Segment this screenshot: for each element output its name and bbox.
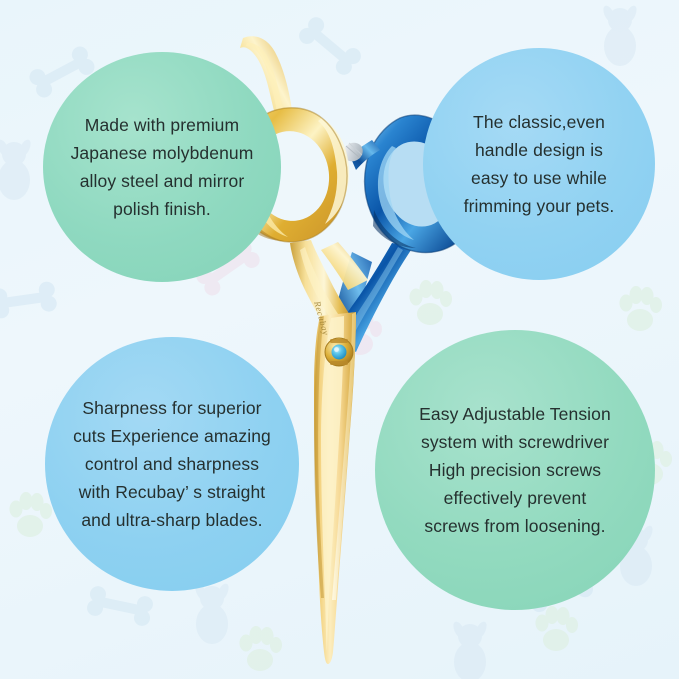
feature-text-tension-system: Easy Adjustable Tension system with scre… xyxy=(387,400,643,540)
feature-circle-tension-system: Easy Adjustable Tension system with scre… xyxy=(375,330,655,610)
feature-text-handle-design: The classic,even handle design is easy t… xyxy=(435,108,643,220)
product-infographic: Recubay Made with premium Japanese molyb… xyxy=(0,0,679,679)
silver-tip xyxy=(340,139,366,165)
feature-circle-sharpness: Sharpness for superior cuts Experience a… xyxy=(45,337,299,591)
feature-circle-material: Made with premium Japanese molybdenum al… xyxy=(43,52,281,282)
blade-brand-engraving: Recubay xyxy=(312,300,331,337)
feature-circle-handle-design: The classic,even handle design is easy t… xyxy=(423,48,655,280)
feature-text-material: Made with premium Japanese molybdenum al… xyxy=(55,111,269,223)
feature-text-sharpness: Sharpness for superior cuts Experience a… xyxy=(52,394,292,534)
pivot-screw xyxy=(325,338,353,366)
